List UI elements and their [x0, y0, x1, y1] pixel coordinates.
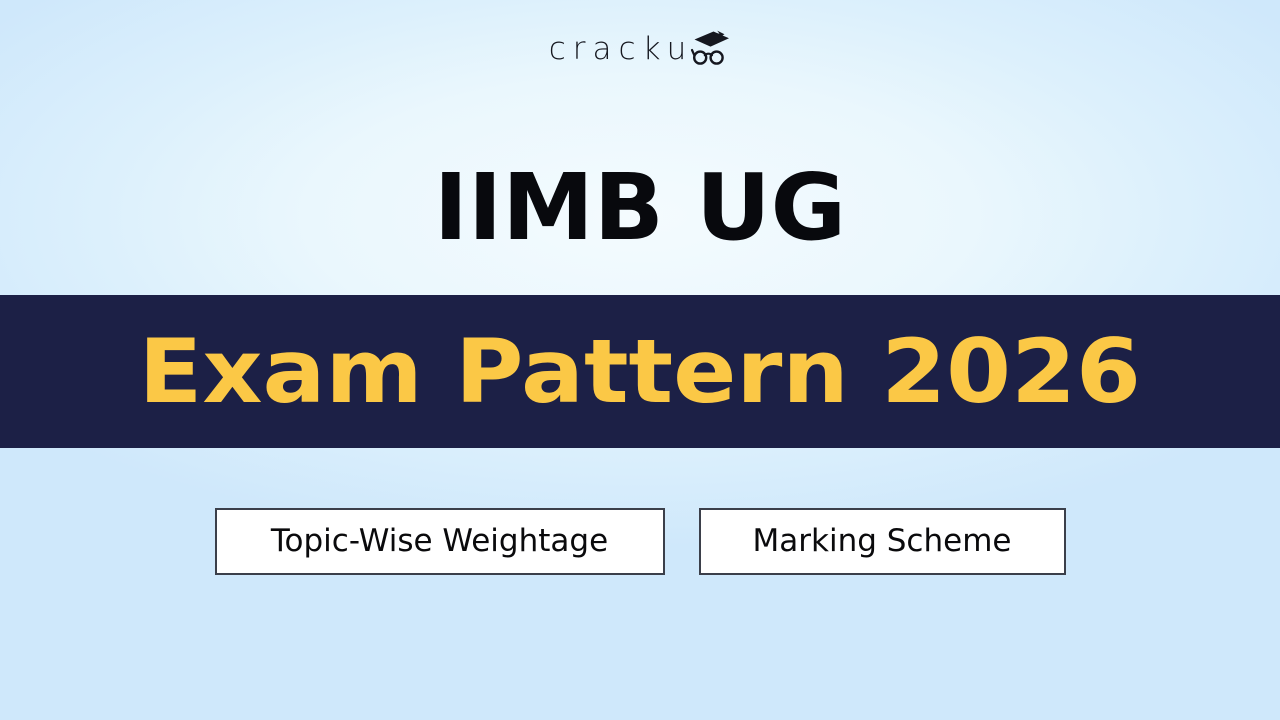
headline-section: IIMB UG [0, 120, 1280, 295]
graduation-cap-glasses-icon [689, 28, 731, 68]
poster-canvas: cracku IIMB UG [0, 0, 1280, 720]
brand-logo[interactable]: cracku [549, 20, 731, 76]
topic-wise-weightage-label: Topic-Wise Weightage [271, 526, 608, 557]
topic-wise-weightage-button[interactable]: Topic-Wise Weightage [215, 508, 665, 575]
marking-scheme-label: Marking Scheme [753, 526, 1012, 557]
banner-title: Exam Pattern 2026 [139, 328, 1141, 416]
action-button-row: Topic-Wise Weightage Marking Scheme [0, 508, 1280, 575]
page-title: IIMB UG [434, 162, 846, 254]
brand-header: cracku [0, 0, 1280, 100]
banner-strip: Exam Pattern 2026 [0, 295, 1280, 448]
marking-scheme-button[interactable]: Marking Scheme [699, 508, 1066, 575]
brand-name: cracku [549, 34, 693, 65]
